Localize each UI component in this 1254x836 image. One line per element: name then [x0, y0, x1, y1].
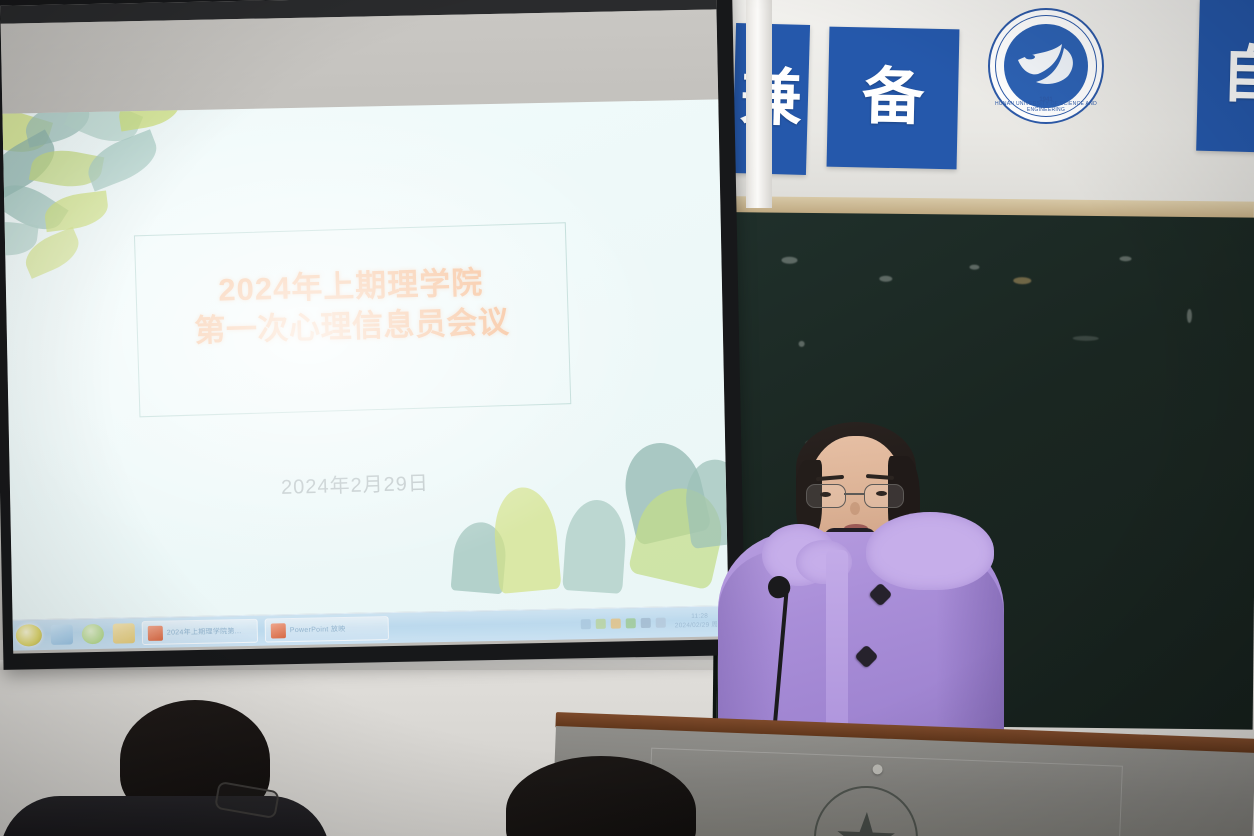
presentation-slide: 2024年上期理学院 第一次心理信息员会议 2024年2月29日 — [2, 99, 728, 619]
audience-hair — [506, 756, 696, 836]
projection-screen: 2024年上期理学院 第一次心理信息员会议 2024年2月29日 2024年上期… — [0, 0, 745, 670]
classroom-photo: 兼 备 1941 HUNAN UNIVERSITY OF SCIENCE AND… — [0, 0, 1254, 836]
media-icon[interactable] — [51, 624, 73, 644]
presenter-eye-right — [876, 491, 887, 496]
powerpoint-icon — [271, 623, 286, 638]
lens-right — [864, 484, 904, 508]
input-method-icon[interactable] — [641, 618, 651, 628]
network-icon[interactable] — [596, 619, 606, 629]
action-center-icon[interactable] — [581, 619, 591, 629]
placard-char: 备 — [861, 66, 924, 129]
browser-icon[interactable] — [82, 624, 104, 644]
presenter — [700, 400, 1020, 740]
coat-placket — [826, 550, 848, 744]
explorer-icon[interactable] — [113, 623, 135, 643]
audience-shoulders — [0, 796, 330, 836]
hood-fur-right — [866, 512, 994, 590]
audience-member-left — [96, 700, 286, 836]
placard-char: 自 — [1220, 44, 1254, 107]
wall-placard-2: 备 — [827, 27, 960, 170]
wall-pillar — [746, 0, 772, 208]
university-emblem: 1941 HUNAN UNIVERSITY OF SCIENCE AND ENG… — [988, 8, 1104, 124]
powerpoint-icon — [148, 625, 163, 640]
shield-icon[interactable] — [626, 618, 636, 628]
presenter-eye-left — [820, 492, 831, 497]
start-button-icon[interactable] — [16, 624, 42, 647]
taskbar-item-label: PowerPoint 放映 — [290, 624, 346, 635]
screen-surface: 2024年上期理学院 第一次心理信息员会议 2024年2月29日 2024年上期… — [0, 0, 729, 654]
taskbar-item-label: 2024年上期理学院第... — [167, 626, 242, 637]
taskbar-item-powerpoint-1[interactable]: 2024年上期理学院第... — [142, 619, 258, 645]
battery-icon[interactable] — [656, 618, 666, 628]
podium-star-icon — [835, 811, 897, 836]
glasses-bridge — [844, 493, 864, 495]
volume-icon[interactable] — [611, 618, 621, 628]
audience-member-right — [506, 756, 716, 836]
slide-title: 2024年上期理学院 第一次心理信息员会议 — [145, 261, 557, 352]
leaf-decoration-bottomright — [438, 399, 728, 620]
emblem-en-name: HUNAN UNIVERSITY OF SCIENCE AND ENGINEER… — [990, 101, 1102, 113]
wall-placard-3: 自 — [1196, 0, 1254, 153]
taskbar-item-powerpoint-2[interactable]: PowerPoint 放映 — [265, 616, 389, 642]
